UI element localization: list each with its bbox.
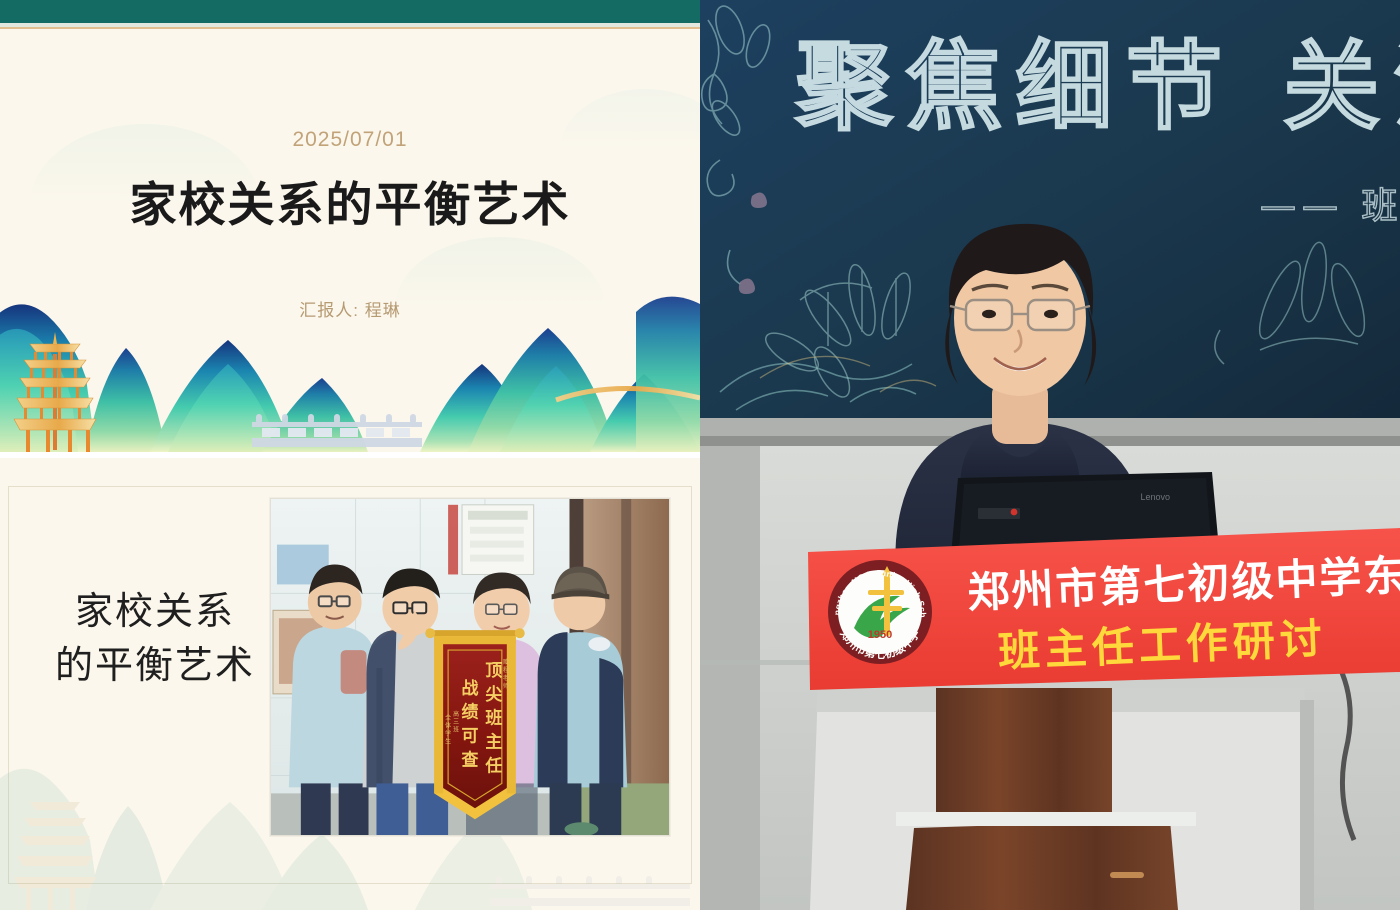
content-slide-heading: 家校关系 的平衡艺术 [40,586,270,694]
chalkboard-subline: —— 班主 [1260,186,1400,227]
svg-text:赠: 赠 [503,658,509,666]
slide-top-band [0,0,700,23]
slide-date: 2025/07/01 [0,128,700,152]
heading-line-1: 家校关系 [40,586,270,640]
slides-column: 2025/07/01 家校关系的平衡艺术 汇报人: 程琳 [0,0,700,910]
svg-text:尖: 尖 [485,684,502,704]
svg-text:老: 老 [503,674,509,682]
svg-text:顶: 顶 [485,660,502,680]
appreciation-banner: 顶尖 班主任 战绩 可查 赠程老师 高三班 全体学生 [425,628,524,819]
svg-text:主: 主 [485,732,502,752]
svg-text:程: 程 [503,666,509,674]
chalkboard-headline: 聚焦细节 关注 [795,31,1400,143]
svg-text:师: 师 [503,682,509,690]
svg-text:战: 战 [462,678,479,698]
screenshot-stage: 2025/07/01 家校关系的平衡艺术 汇报人: 程琳 [0,0,1400,910]
svg-text:绩: 绩 [462,702,479,722]
event-photo: 聚焦细节 关注 —— 班主 [700,0,1400,910]
svg-text:高: 高 [453,710,459,718]
school-logo-year: 1950 [868,629,892,641]
chalkboard-headline-text: 聚焦细节 关注 [795,31,1400,143]
svg-text:体: 体 [445,722,451,730]
laptop-maker-label: Lenovo [1140,492,1170,502]
svg-text:可: 可 [462,726,479,746]
slide-main-title: 家校关系的平衡艺术 [0,166,700,235]
mountain-decoration [0,282,700,452]
podium-banner: 1950 Zhengzhou NO.7 Junior High School 郑… [808,528,1400,690]
svg-text:班: 班 [485,708,502,728]
svg-text:生: 生 [445,738,451,746]
chalkboard-subline-text: —— 班主 [1260,186,1400,227]
svg-text:班: 班 [453,726,459,734]
svg-text:全: 全 [445,714,451,722]
svg-text:三: 三 [453,719,459,726]
svg-text:任: 任 [484,755,502,775]
svg-text:查: 查 [461,750,479,770]
heading-line-2: 的平衡艺术 [40,640,270,694]
group-photo: 顶尖 班主任 战绩 可查 赠程老师 高三班 全体学生 [270,498,670,836]
thinkpad-logo [978,508,1020,519]
podium [810,660,1354,910]
svg-text:学: 学 [445,730,451,738]
title-slide[interactable]: 2025/07/01 家校关系的平衡艺术 汇报人: 程琳 [0,0,700,452]
